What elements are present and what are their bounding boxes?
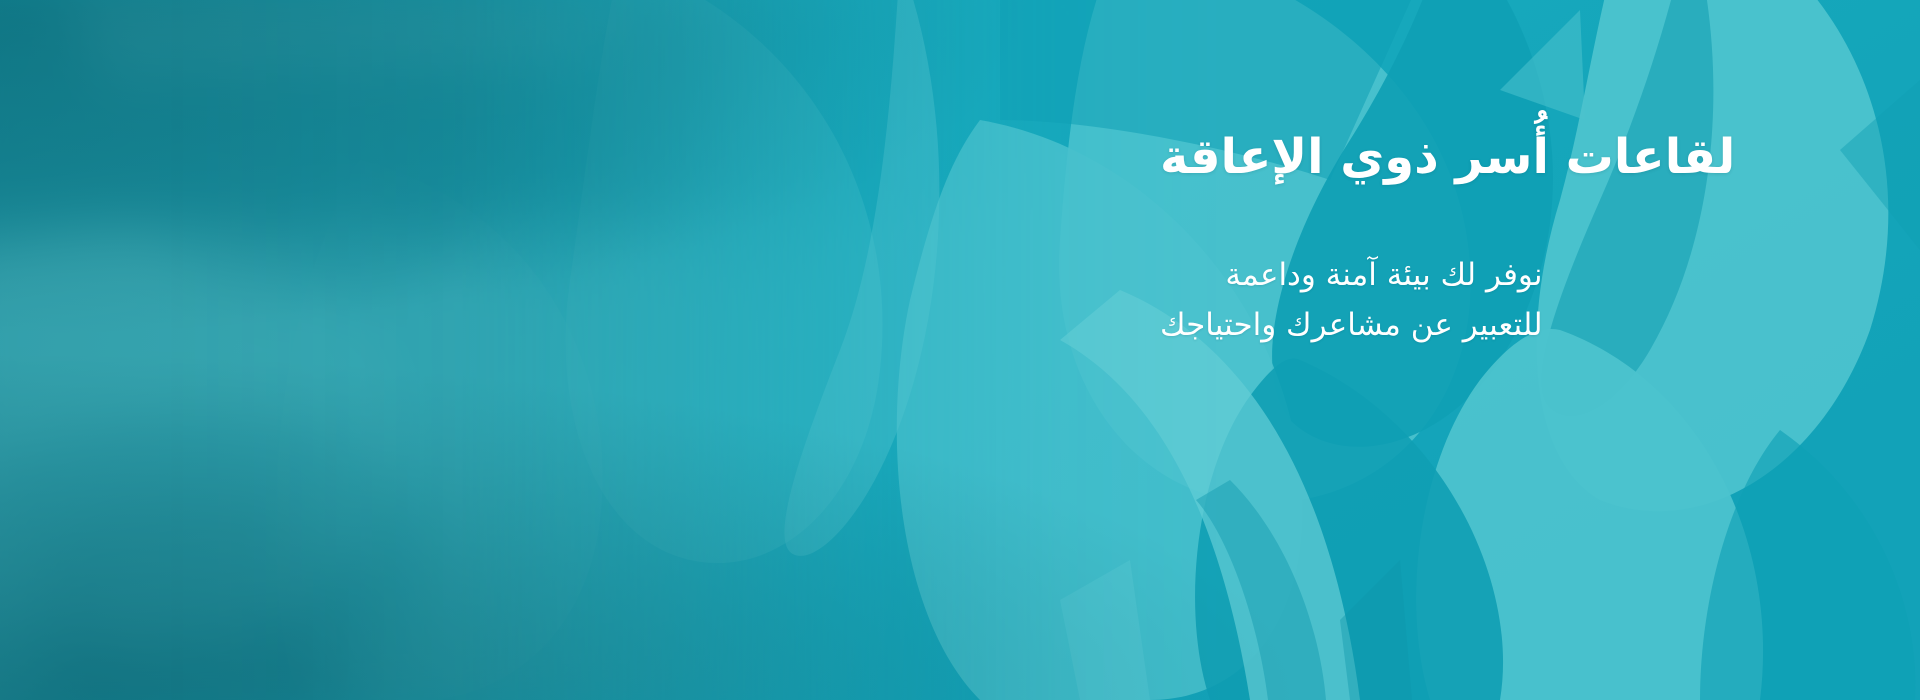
hero-subtitle-line-2: للتعبير عن مشاعرك واحتياجك	[1160, 300, 1543, 350]
hero-subtitle: نوفر لك بيئة آمنة وداعمة للتعبير عن مشاع…	[1160, 188, 1543, 350]
hero-banner: لقاعات أُسر ذوي الإعاقة نوفر لك بيئة آمن…	[0, 0, 1920, 700]
hero-copy-block: لقاعات أُسر ذوي الإعاقة نوفر لك بيئة آمن…	[1160, 0, 1920, 700]
hero-subtitle-line-1: نوفر لك بيئة آمنة وداعمة	[1160, 250, 1543, 300]
hero-headline: لقاعات أُسر ذوي الإعاقة	[1160, 0, 1735, 188]
